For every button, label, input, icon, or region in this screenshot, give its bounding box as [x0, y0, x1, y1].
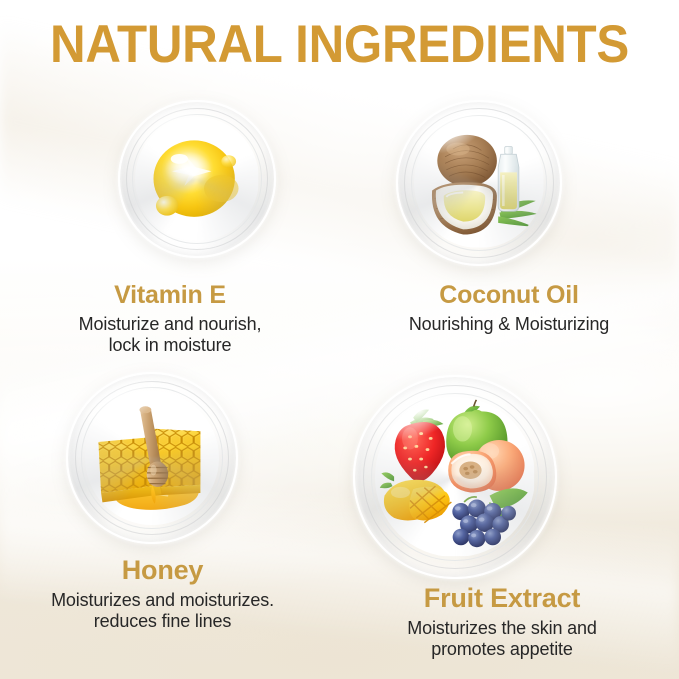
- coconut-oil-caption: Coconut Oil Nourishing & Moisturizing: [339, 282, 679, 335]
- vitamin-e-oil-drop-icon: [135, 117, 258, 240]
- coconut-oil-jar: [396, 100, 562, 266]
- ingredient-desc-vitamin-e: Moisturize and nourish, lock in moisture: [0, 314, 340, 356]
- fruit-extract-jar-contents: [375, 397, 534, 556]
- honey-caption: Honey Moisturizes and moisturizes. reduc…: [0, 556, 325, 632]
- mixed-fruit-icon: [375, 397, 534, 556]
- natural-ingredients-infographic: NATURAL INGREDIENTS: [0, 0, 679, 679]
- ingredient-desc-coconut-oil: Nourishing & Moisturizing: [339, 314, 679, 335]
- coconut-oil-jar-contents: [414, 118, 544, 248]
- fruit-extract-caption: Fruit Extract Moisturizes the skin and p…: [325, 584, 679, 660]
- vitamin-e-jar: [118, 100, 276, 258]
- ingredient-card-coconut-oil: Coconut Oil Nourishing & Moisturizing: [339, 96, 679, 356]
- honeycomb-icon: [85, 391, 219, 525]
- ingredient-desc-fruit-extract: Moisturizes the skin and promotes appeti…: [325, 618, 679, 660]
- ingredient-name-fruit-extract: Fruit Extract: [325, 584, 679, 614]
- fruit-extract-jar: [353, 375, 557, 579]
- ingredient-card-vitamin-e: Vitamin E Moisturize and nourish, lock i…: [0, 96, 340, 356]
- honey-jar: [66, 372, 238, 544]
- page-title: NATURAL INGREDIENTS: [24, 18, 655, 72]
- coconut-oil-icon: [414, 118, 544, 248]
- vitamin-e-jar-contents: [135, 117, 258, 240]
- vitamin-e-caption: Vitamin E Moisturize and nourish, lock i…: [0, 282, 340, 356]
- ingredient-card-honey: Honey Moisturizes and moisturizes. reduc…: [0, 370, 325, 670]
- ingredient-name-vitamin-e: Vitamin E: [0, 282, 340, 310]
- ingredient-card-fruit-extract: Fruit Extract Moisturizes the skin and p…: [325, 370, 679, 679]
- ingredient-desc-honey: Moisturizes and moisturizes. reduces fin…: [0, 590, 325, 632]
- ingredient-name-coconut-oil: Coconut Oil: [339, 282, 679, 310]
- ingredient-name-honey: Honey: [0, 556, 325, 586]
- honey-jar-contents: [85, 391, 219, 525]
